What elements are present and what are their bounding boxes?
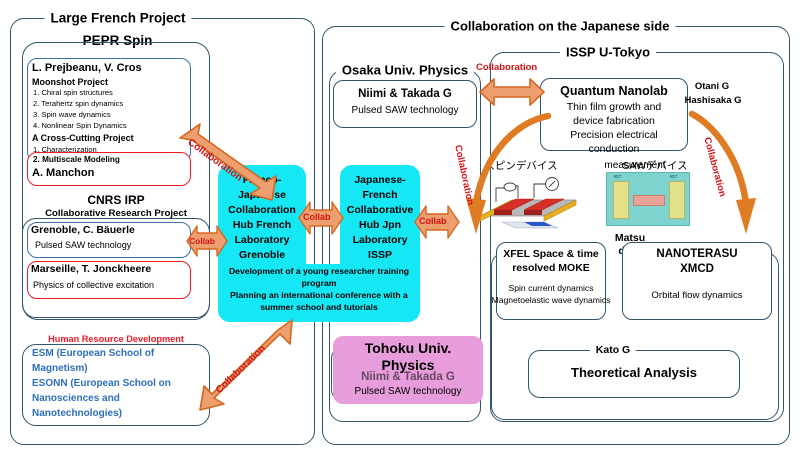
collaboration-arrow-top-left — [178, 124, 282, 202]
nanoterasu-line-1: Orbital flow dynamics — [622, 290, 772, 301]
xfel-line-2: Magnetoelastic wave dynamics — [488, 295, 614, 305]
tohoku-title-line1: Tohoku Univ. — [333, 340, 483, 356]
moonshot-item-4: 4. Nonlinear Spin Dynamics — [33, 121, 191, 130]
japanese-hub-line-1: Japanese- — [338, 174, 422, 186]
collaboration-label-osaka-nanolab: Collaboration — [476, 62, 537, 73]
hrd-line-1: ESM (European School of — [32, 348, 212, 359]
moonshot-item-3: 3. Spin wave dynamics — [33, 110, 191, 119]
hashisaka-group: Hashisaka G — [672, 95, 754, 106]
marseille-lead: Marseille, T. Jonckheere — [31, 263, 189, 275]
nanoterasu-title-line1: NANOTERASU — [622, 248, 772, 260]
moonshot-title: Moonshot Project — [32, 77, 190, 87]
french-hub-line-4: Hub French — [218, 219, 306, 231]
marseille-topic: Physics of collective excitation — [33, 280, 191, 290]
grenoble-topic: Pulsed SAW technology — [35, 240, 193, 250]
collaboration-arrow-osaka-nanolab — [478, 76, 546, 108]
cross-cutting-title: A Cross-Cutting Project — [32, 133, 190, 143]
saw-device-illustration: IDT IDT — [606, 172, 690, 226]
tohoku-group-over: Niimi & Takada G — [333, 371, 483, 383]
collab-label-right: Collab — [419, 216, 447, 226]
moonshot-item-2: 2. Terahertz spin dynamics — [33, 99, 191, 108]
multiscale-item: 2. Multiscale Modeling — [33, 155, 191, 164]
hrd-line-4: Nanosciences and — [32, 393, 212, 404]
collab-label-middle: Collab — [303, 212, 331, 222]
right-panel-title: Collaboration on the Japanese side — [445, 20, 676, 33]
japanese-hub-line-3: Collaborative — [336, 204, 424, 216]
hrd-line-2: Magnetism) — [32, 363, 212, 374]
japanese-hub-line-5: Laboratory — [338, 234, 422, 246]
saw-idt-right-label: IDT — [670, 174, 677, 179]
left-panel-title: Large French Project — [44, 11, 191, 25]
nanolab-line-4: conduction — [540, 143, 688, 155]
saw-idt-left — [613, 181, 629, 219]
nanolab-line-1: Thin film growth and — [540, 101, 688, 113]
multiscale-lead: A. Manchon — [32, 167, 190, 179]
hrd-title: Human Resource Development — [18, 334, 214, 344]
moonshot-leads: L. Prejbeanu, V. Cros — [32, 62, 190, 74]
hub-note-2: program — [215, 278, 423, 288]
moonshot-item-1: 1. Chiral spin structures — [33, 88, 191, 97]
nanolab-title: Quantum Nanolab — [540, 84, 688, 98]
osaka-title: Osaka Univ. Physics — [336, 64, 474, 77]
hub-note-3: Planning an international conference wit… — [213, 290, 425, 300]
xfel-title-line2: resolved MOKE — [490, 262, 612, 274]
grenoble-lead: Grenoble, C. Bäuerle — [31, 224, 189, 236]
hrd-line-5: Nanotechnologies) — [32, 408, 212, 419]
saw-device-label: SAWデバイス — [610, 158, 700, 173]
japanese-hub-line-4: Hub Jpn — [338, 219, 422, 231]
osaka-group: Niimi & Takada G — [333, 88, 477, 100]
saw-active-region — [633, 195, 665, 206]
saw-idt-right — [669, 181, 685, 219]
hub-note-4: summer school and tutorials — [215, 302, 423, 312]
collaboration-arrow-nanolab-nanoterasu — [688, 108, 778, 248]
nanoterasu-title-line2: XMCD — [622, 263, 772, 275]
nanolab-line-2: device fabrication — [540, 115, 688, 127]
tohoku-topic-over: Pulsed SAW technology — [333, 386, 483, 397]
xfel-line-1: Spin current dynamics — [490, 283, 612, 293]
hrd-line-3: ESONN (European School on — [32, 378, 212, 389]
collab-label-left: Collab — [189, 236, 215, 246]
french-hub-line-3: Collaboration — [216, 204, 308, 216]
otani-group: Otani G — [676, 81, 748, 92]
japanese-hub-line-2: French — [338, 189, 422, 201]
diagram-canvas: Large French Project PEPR Spin L. Prejbe… — [0, 0, 800, 463]
kato-body: Theoretical Analysis — [528, 365, 740, 380]
japanese-hub-line-6: ISSP — [338, 249, 422, 261]
french-hub-line-6: Grenoble — [218, 249, 306, 261]
kato-title: Kato G — [590, 345, 636, 356]
hub-note-1: Development of a young researcher traini… — [215, 266, 423, 276]
xfel-title-line1: XFEL Space & time — [490, 248, 612, 260]
issp-title: ISSP U-Tokyo — [560, 46, 656, 59]
collaboration-arrow-nanolab-xfel — [456, 106, 552, 246]
french-hub-line-5: Laboratory — [218, 234, 306, 246]
nanolab-line-3: Precision electrical — [540, 129, 688, 141]
saw-idt-left-label: IDT — [614, 174, 621, 179]
